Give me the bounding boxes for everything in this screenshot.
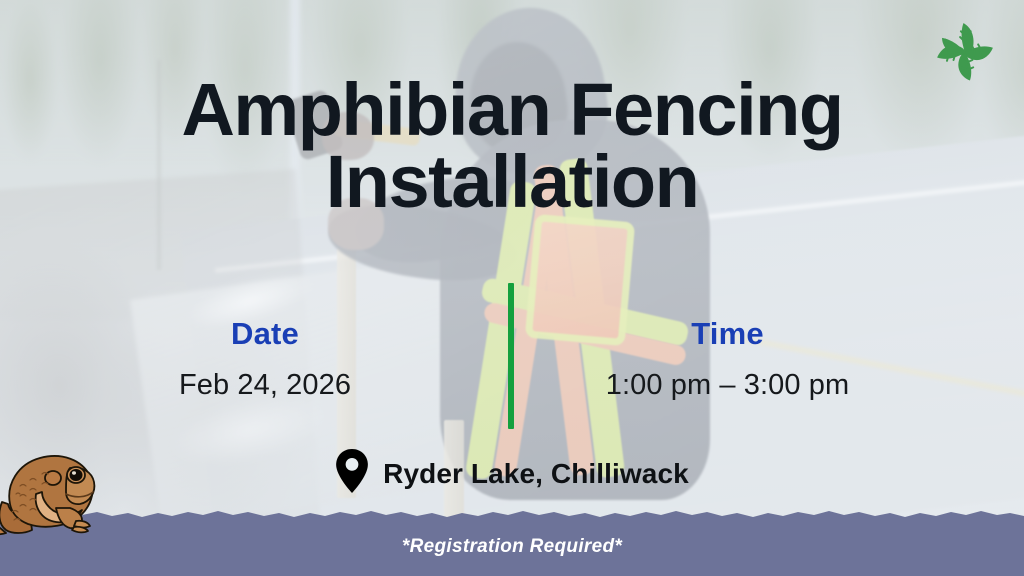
- time-value: 1:00 pm – 3:00 pm: [575, 369, 880, 402]
- registration-banner: *Registration Required*: [0, 518, 1024, 576]
- time-column: Time 1:00 pm – 3:00 pm: [575, 316, 880, 402]
- event-poster: Amphibian Fencing Installation Date Feb …: [0, 0, 1024, 576]
- date-column: Date Feb 24, 2026: [135, 316, 395, 402]
- date-value: Feb 24, 2026: [135, 369, 395, 402]
- banner-torn-edge: [0, 509, 1024, 521]
- registration-text: *Registration Required*: [0, 536, 1024, 558]
- title-line-2: Installation: [0, 146, 1024, 218]
- vertical-divider: [508, 283, 514, 429]
- location-text: Ryder Lake, Chilliwack: [383, 458, 689, 490]
- time-label: Time: [575, 316, 880, 352]
- date-label: Date: [135, 316, 395, 352]
- title-line-1: Amphibian Fencing: [181, 68, 842, 151]
- page-title: Amphibian Fencing Installation: [0, 74, 1024, 218]
- brown-toad-illustration: [0, 442, 108, 542]
- map-pin-icon: [335, 448, 369, 499]
- location-row: Ryder Lake, Chilliwack: [0, 448, 1024, 499]
